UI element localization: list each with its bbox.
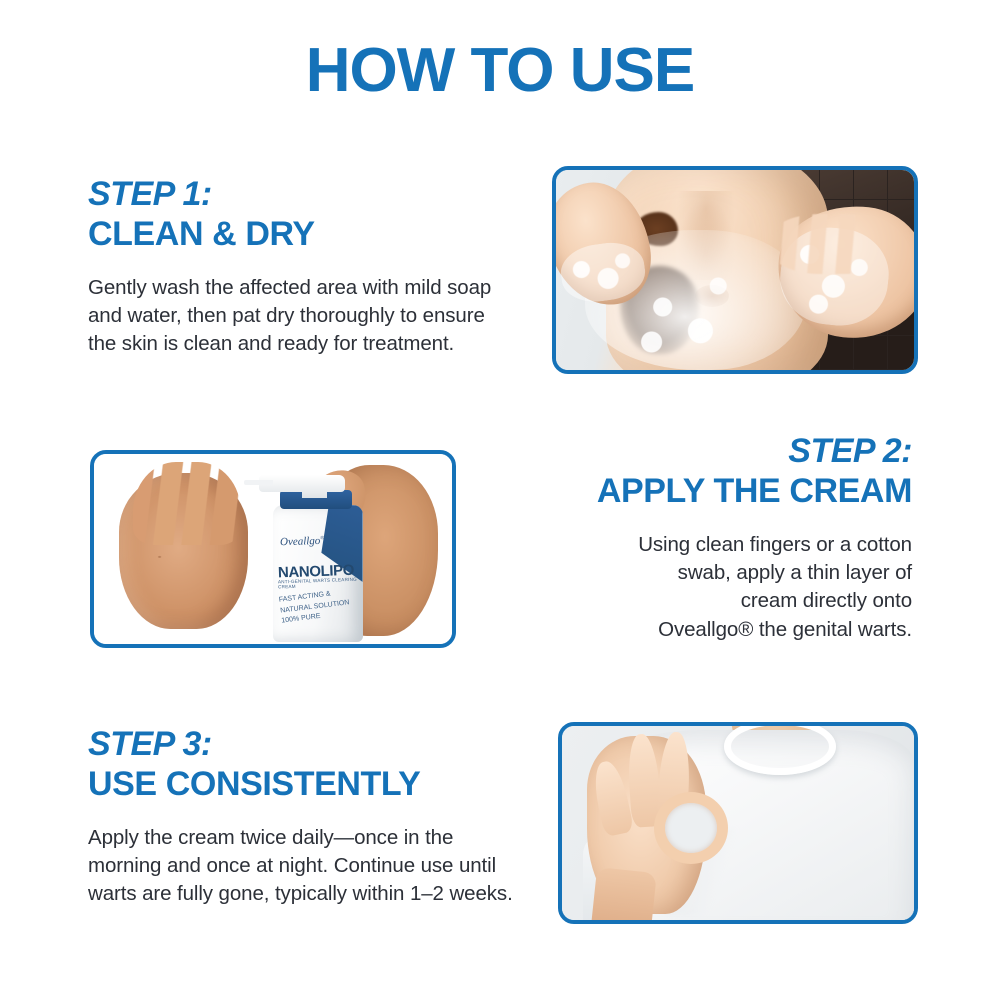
step-2-kicker: STEP 2: [492, 432, 912, 470]
step-1-kicker: STEP 1: [88, 175, 508, 213]
photo-ok-hand-gesture [562, 726, 914, 920]
ok-circle [654, 792, 729, 864]
step-1-heading: CLEAN & DRY [88, 215, 508, 254]
product-bottle: Oveallgo® NANOLIPO ANTI-GENITAL WARTS CL… [273, 505, 363, 642]
step-3-kicker: STEP 3: [88, 725, 518, 763]
step-1-photo-frame [552, 166, 918, 374]
open-palm-fingers [133, 462, 240, 546]
step-2-body-line-4: Oveallgo® the genital warts. [492, 616, 912, 644]
bottle-pump-nozzle [244, 480, 273, 486]
step-3-body: Apply the cream twice daily—once in the … [88, 824, 518, 909]
bottle-brand-text: Oveallgo [280, 535, 321, 548]
step-2-body-line-1: Using clean fingers or a cotton [492, 531, 912, 559]
page-title: HOW TO USE [0, 40, 1000, 102]
photo-product-bottle-in-hands: Oveallgo® NANOLIPO ANTI-GENITAL WARTS CL… [94, 454, 452, 644]
step-2-photo-frame: Oveallgo® NANOLIPO ANTI-GENITAL WARTS CL… [90, 450, 456, 648]
step-2-body: Using clean fingers or a cotton swab, ap… [492, 531, 912, 644]
step-3-photo-frame [558, 722, 918, 924]
bottle-brand-mark: ® [320, 537, 324, 542]
step-2-text-block: STEP 2: APPLY THE CREAM Using clean fing… [492, 432, 912, 644]
step-2-heading: APPLY THE CREAM [492, 472, 912, 511]
wrist [591, 867, 657, 920]
palm-creases [142, 538, 230, 600]
bottle-claims: FAST ACTING & NATURAL SOLUTION 100% PURE [279, 587, 359, 628]
step-1-body: Gently wash the affected area with mild … [88, 274, 508, 359]
step-1-text-block: STEP 1: CLEAN & DRY Gently wash the affe… [88, 175, 508, 359]
step-2-body-line-3: cream directly onto [492, 587, 912, 615]
step-2-body-line-2: swab, apply a thin layer of [492, 559, 912, 587]
step-3-text-block: STEP 3: USE CONSISTENTLY Apply the cream… [88, 725, 518, 909]
step-3-heading: USE CONSISTENTLY [88, 765, 518, 804]
photo-wash-affected-area [556, 170, 914, 370]
right-hand-fingers [771, 214, 893, 274]
how-to-use-infographic: HOW TO USE STEP 1: CLEAN & DRY Gently wa… [0, 0, 1000, 1000]
